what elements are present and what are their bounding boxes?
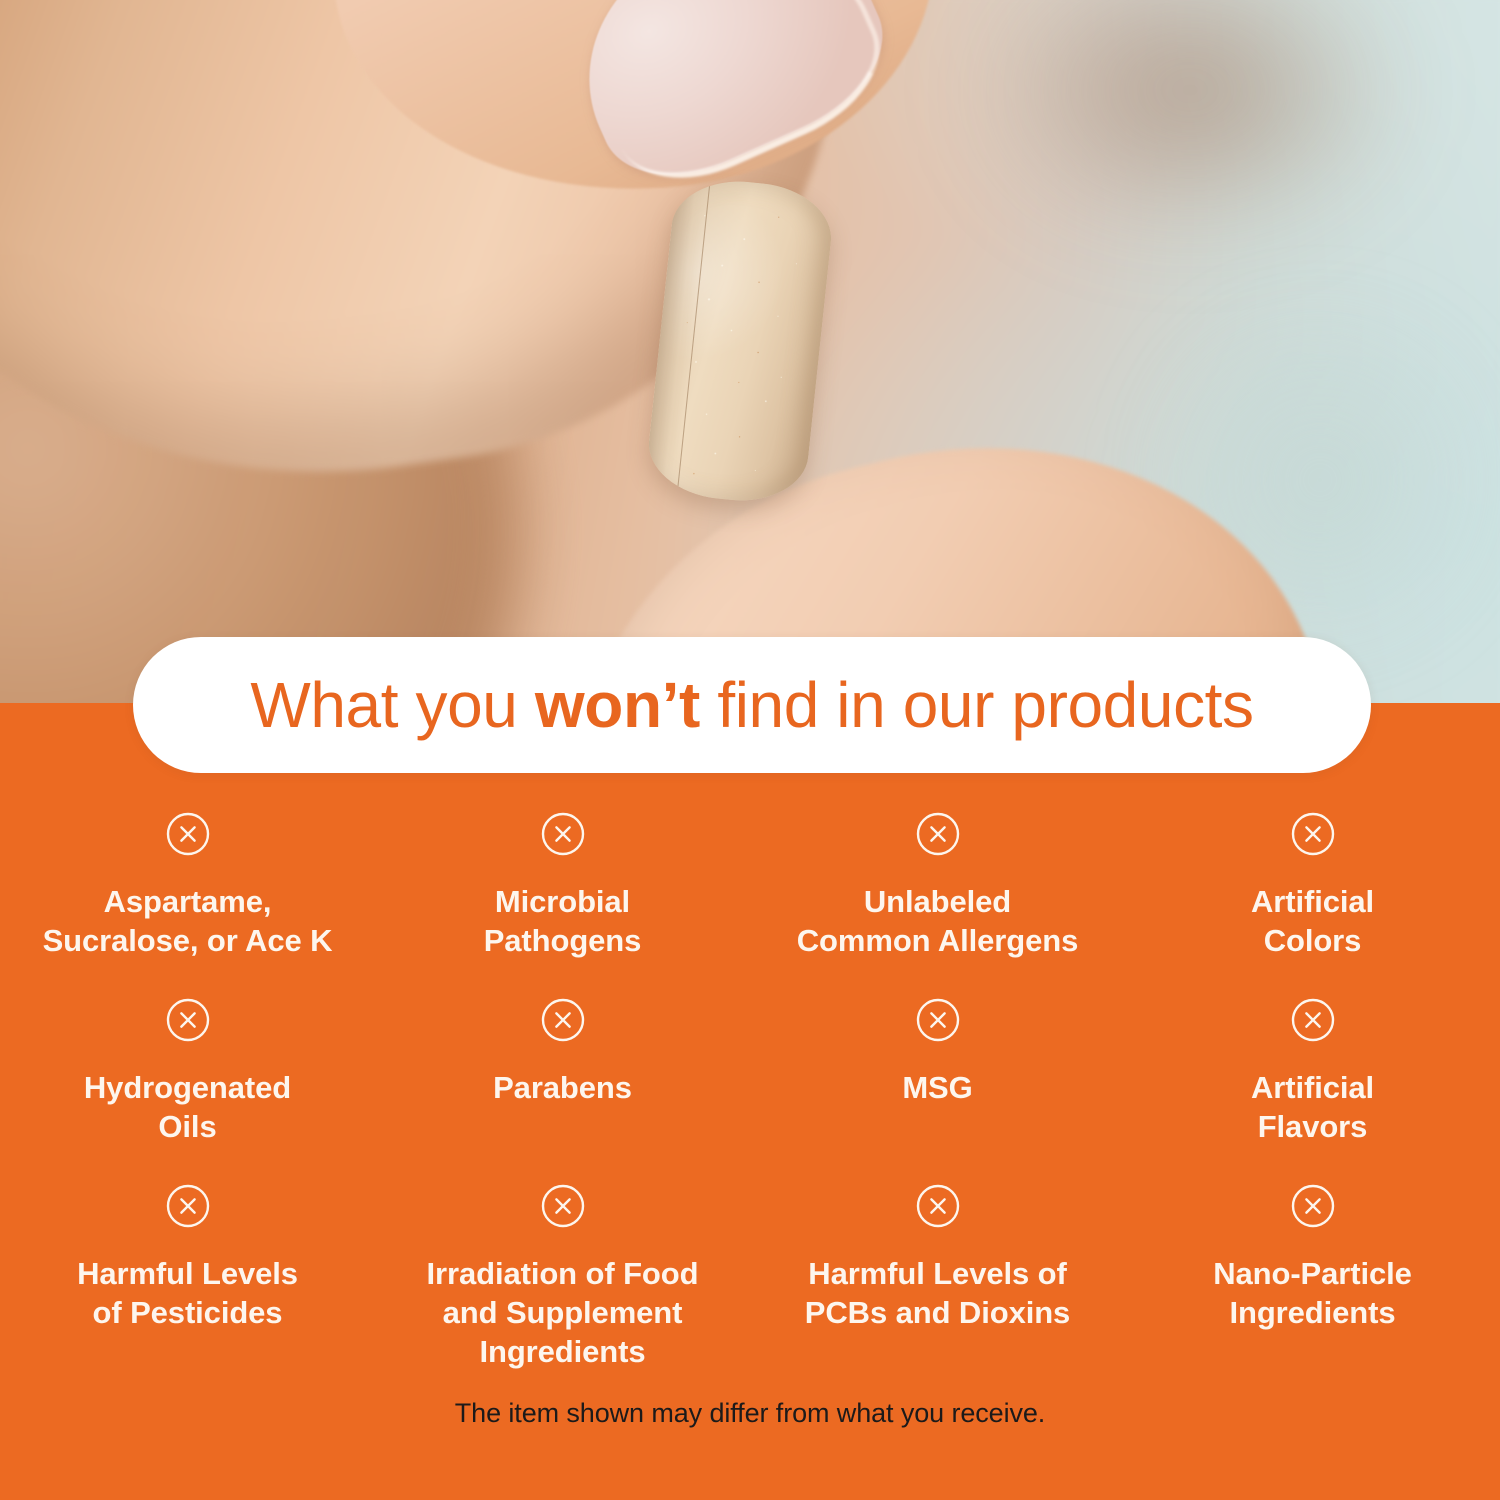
exclusion-item: Hydrogenated Oils <box>0 998 375 1146</box>
exclusion-item: Microbial Pathogens <box>375 812 750 960</box>
hero-photo <box>0 0 1500 705</box>
exclusion-item-label: Harmful Levels of Pesticides <box>77 1254 298 1332</box>
exclusion-item: Irradiation of Food and Supplement Ingre… <box>375 1184 750 1371</box>
page-title-prefix: What you <box>250 669 535 741</box>
exclusion-item: Artificial Colors <box>1125 812 1500 960</box>
exclusion-item-label: Artificial Colors <box>1251 882 1374 960</box>
exclusion-item: Nano-Particle Ingredients <box>1125 1184 1500 1371</box>
circle-x-icon <box>541 812 585 856</box>
exclusion-item-label: Hydrogenated Oils <box>84 1068 291 1146</box>
circle-x-icon <box>916 998 960 1042</box>
circle-x-icon <box>916 1184 960 1228</box>
exclusion-item-label: Aspartame, Sucralose, or Ace K <box>43 882 333 960</box>
disclaimer-text: The item shown may differ from what you … <box>0 1398 1500 1429</box>
circle-x-icon <box>166 812 210 856</box>
circle-x-icon <box>916 812 960 856</box>
exclusion-item-label: Unlabeled Common Allergens <box>797 882 1078 960</box>
exclusion-item-label: Harmful Levels of PCBs and Dioxins <box>805 1254 1070 1332</box>
title-card: What you won’t find in our products <box>133 637 1371 773</box>
page-title-suffix: find in our products <box>700 669 1254 741</box>
exclusion-item: Harmful Levels of Pesticides <box>0 1184 375 1371</box>
exclusion-grid: Aspartame, Sucralose, or Ace KMicrobial … <box>0 812 1500 1371</box>
page-title: What you won’t find in our products <box>250 673 1253 737</box>
exclusion-item-label: Parabens <box>493 1068 632 1107</box>
circle-x-icon <box>1291 1184 1335 1228</box>
exclusion-item: Unlabeled Common Allergens <box>750 812 1125 960</box>
exclusion-item: Parabens <box>375 998 750 1146</box>
exclusion-item: Artificial Flavors <box>1125 998 1500 1146</box>
exclusion-item: Aspartame, Sucralose, or Ace K <box>0 812 375 960</box>
circle-x-icon <box>1291 812 1335 856</box>
exclusion-item: MSG <box>750 998 1125 1146</box>
exclusion-item-label: Artificial Flavors <box>1251 1068 1374 1146</box>
exclusion-item: Harmful Levels of PCBs and Dioxins <box>750 1184 1125 1371</box>
product-infographic: What you won’t find in our products Aspa… <box>0 0 1500 1500</box>
circle-x-icon <box>541 1184 585 1228</box>
exclusion-item-label: Microbial Pathogens <box>484 882 642 960</box>
circle-x-icon <box>166 998 210 1042</box>
exclusion-item-label: Irradiation of Food and Supplement Ingre… <box>427 1254 699 1371</box>
circle-x-icon <box>166 1184 210 1228</box>
supplement-tablet <box>644 175 836 508</box>
exclusion-item-label: Nano-Particle Ingredients <box>1213 1254 1412 1332</box>
exclusion-item-label: MSG <box>902 1068 972 1107</box>
circle-x-icon <box>1291 998 1335 1042</box>
circle-x-icon <box>541 998 585 1042</box>
page-title-emphasis: won’t <box>535 669 700 741</box>
